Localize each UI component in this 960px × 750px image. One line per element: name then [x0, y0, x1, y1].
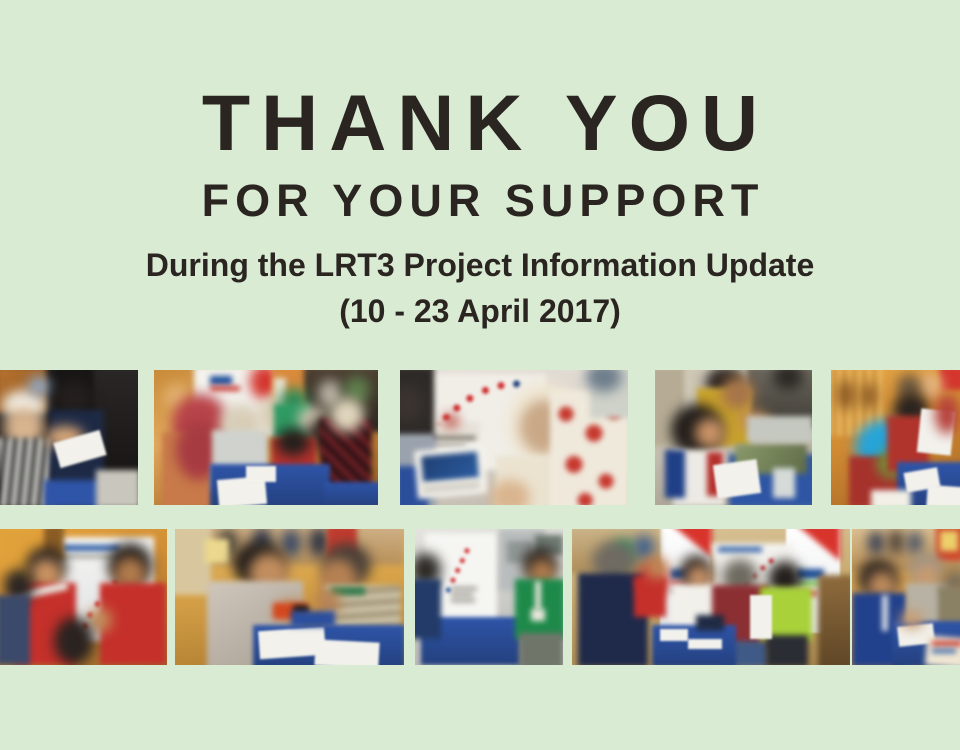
poster-canvas: THANK YOU FOR YOUR SUPPORT During the LR…	[0, 0, 960, 750]
photo-officer-assisting-resident	[175, 529, 404, 665]
photo-elderly-man-receiving-leaflet	[0, 370, 138, 505]
description-line-1: During the LRT3 Project Information Upda…	[0, 246, 960, 284]
photo-woman-reading-brochure	[400, 370, 628, 505]
description-line-2: (10 - 23 April 2017)	[0, 292, 960, 330]
photo-family-at-information-counter	[154, 370, 378, 505]
photo-exhibition-panel-walkthrough	[415, 529, 563, 665]
page-title: THANK YOU	[0, 80, 960, 166]
photo-staff-explaining-route-map	[0, 529, 167, 665]
photo-child-viewing-model-display	[655, 370, 812, 505]
page-subtitle: FOR YOUR SUPPORT	[0, 175, 960, 227]
photo-visitors-collecting-forms	[831, 370, 960, 505]
photo-crowd-at-lrt3-booth	[572, 529, 850, 665]
photo-registration-desk-queue	[852, 529, 960, 665]
